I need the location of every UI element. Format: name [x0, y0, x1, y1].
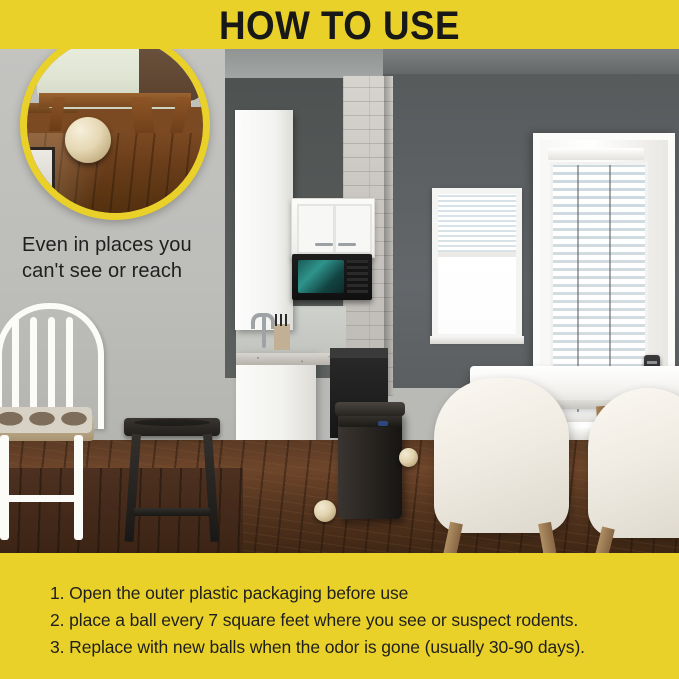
stool-leg — [124, 434, 141, 542]
chair-cushion — [0, 407, 92, 433]
chair-spindle — [12, 317, 19, 421]
door-blind-valance — [548, 148, 644, 160]
inset-photo-circle — [20, 30, 210, 220]
microwave-window — [298, 260, 344, 293]
inset-photo-content — [27, 37, 203, 213]
repellent-ball — [399, 448, 418, 467]
header-band: HOW TO USE — [0, 0, 679, 49]
microwave-control-panel — [347, 260, 368, 293]
cabinet-panel-right — [334, 204, 372, 254]
window-blinds — [438, 194, 516, 252]
chair-leg — [74, 435, 83, 540]
page-title: HOW TO USE — [27, 4, 652, 48]
microwave — [292, 254, 372, 300]
inset-sofa-leg — [49, 97, 65, 131]
instruction-step-1: 1. Open the outer plastic packaging befo… — [50, 583, 408, 604]
knife-block — [274, 324, 290, 350]
how-to-use-infographic: HOW TO USE — [0, 0, 679, 679]
window-sash-rail — [438, 252, 516, 257]
dining-chair-back — [588, 388, 679, 538]
upper-cabinets — [291, 198, 375, 258]
wooden-chair — [0, 303, 102, 553]
trash-can-rim — [335, 402, 405, 416]
inset-sofa-leg — [169, 97, 191, 137]
right-wall-upper — [383, 48, 679, 74]
cabinet-handle-left — [315, 243, 333, 246]
caption-line-1: Even in places you — [22, 232, 192, 258]
caption-line-2: can't see or reach — [22, 258, 192, 284]
chair-spindle — [30, 317, 37, 421]
instruction-steps: 1. Open the outer plastic packaging befo… — [0, 569, 679, 679]
chair-leg — [0, 435, 9, 540]
cabinet-panel-left — [297, 204, 335, 254]
faucet — [262, 316, 266, 348]
repellent-ball — [314, 500, 336, 522]
dining-chair-front — [434, 378, 569, 533]
chair-stretcher — [0, 495, 80, 502]
inset-repellent-ball — [65, 117, 111, 163]
tall-cabinet — [235, 110, 293, 330]
instruction-step-2: 2. place a ball every 7 square feet wher… — [50, 610, 578, 631]
instruction-step-3: 3. Replace with new balls when the odor … — [50, 637, 585, 658]
chair-spindle — [66, 317, 73, 421]
cabinet-handle-right — [338, 243, 356, 246]
window — [432, 188, 522, 340]
stool-leg — [203, 434, 220, 542]
stove-cooktop — [330, 348, 388, 358]
window-sill — [430, 336, 524, 344]
trash-can — [338, 411, 402, 519]
chair-spindle — [48, 317, 55, 421]
inset-picture-frame — [27, 147, 55, 199]
inset-caption: Even in places you can't see or reach — [22, 232, 192, 284]
stool-stretcher — [134, 508, 210, 516]
